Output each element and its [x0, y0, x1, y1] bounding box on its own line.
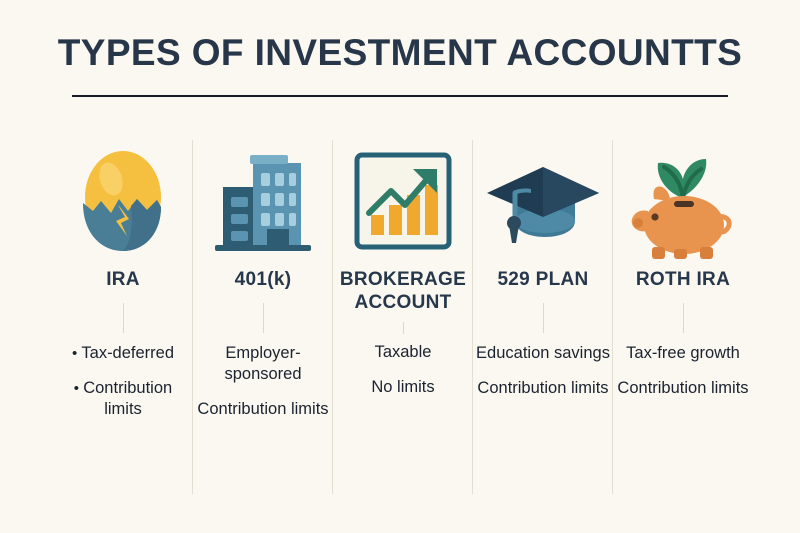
office-building-icon [193, 133, 333, 268]
title-underline-rule [72, 95, 728, 97]
header-connector-line [403, 322, 404, 334]
column-brokerage-account: BROKERAGE ACCOUNT Taxable No limits [333, 133, 473, 493]
column-header-ira: IRA [53, 268, 193, 291]
list-item-text: Contribution limits [617, 379, 748, 397]
column-header-401k: 401(k) [193, 268, 333, 291]
list-item: Education savings [473, 343, 613, 364]
feature-list-brokerage-account: Taxable No limits [333, 342, 473, 398]
title-block: TYPES OF INVESTMENT ACCOUNTTS [0, 30, 800, 76]
list-item-text: Contribution limits [477, 379, 608, 397]
list-item: Tax-free growth [613, 343, 753, 364]
list-bullet: • [72, 345, 81, 362]
header-connector-line [263, 303, 264, 333]
column-roth-ira: ROTH IRA Tax-free growth Contribution li… [613, 133, 753, 493]
growth-chart-icon [333, 133, 473, 268]
list-item: Taxable [333, 342, 473, 363]
list-item: • Contribution limits [53, 378, 193, 420]
list-item-text: Contribution limits [197, 400, 328, 418]
cracked-egg-icon [53, 133, 193, 268]
list-item: Contribution limits [193, 399, 333, 420]
feature-list-529-plan: Education savings Contribution limits [473, 343, 613, 399]
column-header-roth-ira: ROTH IRA [613, 268, 753, 291]
list-item: Employer-sponsored [193, 343, 333, 385]
column-ira: IRA • Tax-deferred • Contribution limits [53, 133, 193, 493]
list-bullet: • [74, 380, 83, 397]
list-item-text: Contribution limits [83, 379, 172, 418]
header-connector-line [683, 303, 684, 333]
list-item: Contribution limits [473, 378, 613, 399]
column-header-529-plan: 529 PLAN [473, 268, 613, 291]
account-type-columns: IRA • Tax-deferred • Contribution limits [53, 133, 753, 493]
list-item-text: Tax-free growth [626, 344, 740, 362]
feature-list-ira: • Tax-deferred • Contribution limits [53, 343, 193, 420]
header-connector-line [543, 303, 544, 333]
list-item: • Tax-deferred [53, 343, 193, 364]
infographic-root: TYPES OF INVESTMENT ACCOUNTTS IRA • Tax-… [0, 0, 800, 533]
graduation-cap-icon [473, 133, 613, 268]
piggy-bank-sprout-icon [613, 133, 753, 268]
page-title: TYPES OF INVESTMENT ACCOUNTTS [0, 30, 800, 76]
column-401k: 401(k) Employer-sponsored Contribution l… [193, 133, 333, 493]
list-item-text: Employer-sponsored [224, 344, 301, 383]
list-item: No limits [333, 377, 473, 398]
header-connector-line [123, 303, 124, 333]
feature-list-roth-ira: Tax-free growth Contribution limits [613, 343, 753, 399]
list-item-text: Taxable [375, 343, 432, 361]
list-item-text: Education savings [476, 344, 610, 362]
column-529-plan: 529 PLAN Education savings Contribution … [473, 133, 613, 493]
column-header-brokerage-account: BROKERAGE ACCOUNT [333, 268, 473, 314]
list-item: Contribution limits [613, 378, 753, 399]
feature-list-401k: Employer-sponsored Contribution limits [193, 343, 333, 420]
list-item-text: No limits [371, 378, 434, 396]
list-item-text: Tax-deferred [81, 344, 174, 362]
